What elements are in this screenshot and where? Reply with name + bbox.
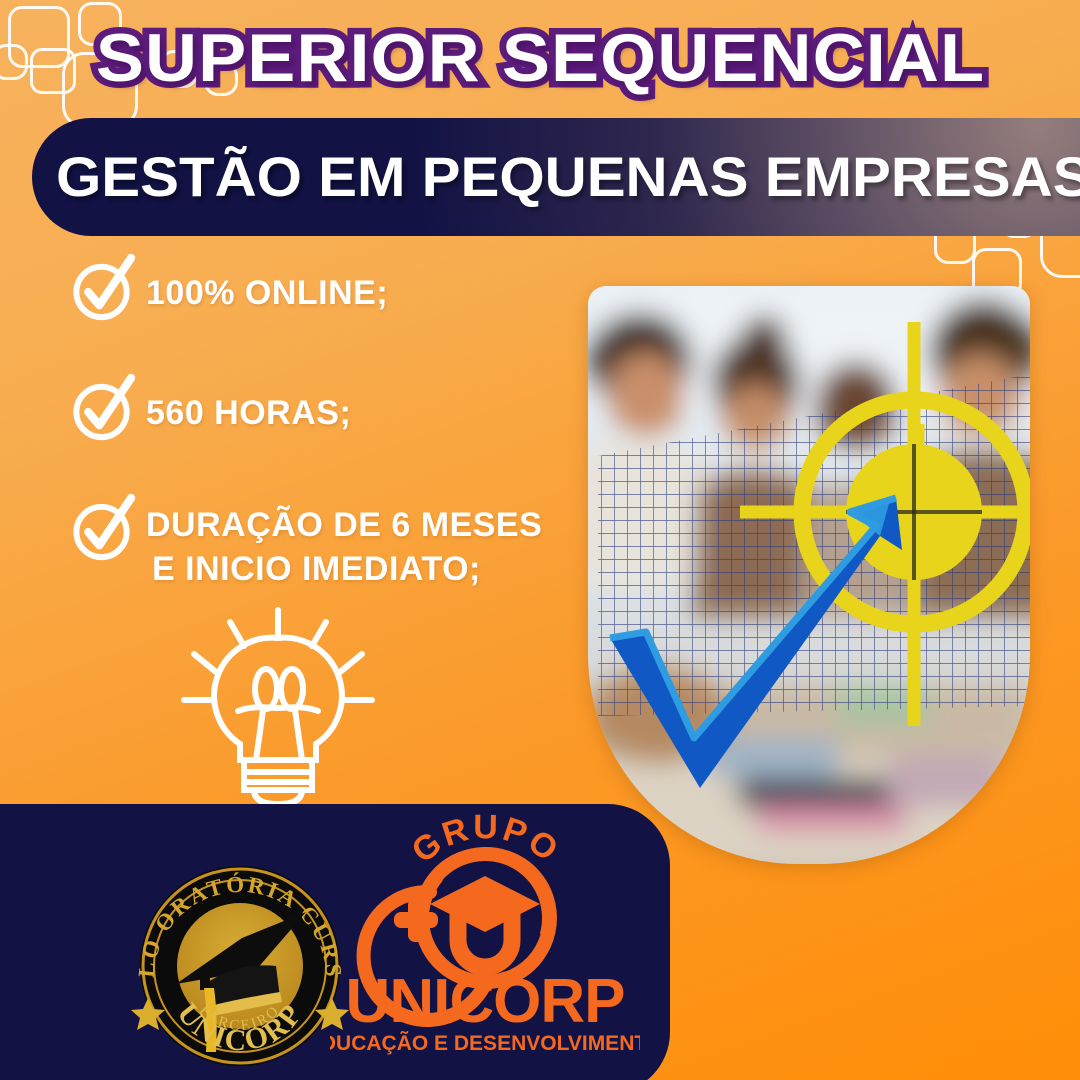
list-item-line1: DURAÇÃO DE 6 MESES	[146, 504, 542, 548]
poster-title: SUPERIOR SEQUENCIAL	[95, 24, 984, 92]
list-item-label: 100% ONLINE;	[146, 258, 388, 316]
circle-check-icon	[66, 492, 140, 566]
list-item-label: 560 HORAS;	[146, 378, 351, 436]
classroom-photo	[588, 286, 1030, 864]
circle-check-icon	[66, 252, 140, 326]
list-item-line2: E INICIO IMEDIATO;	[146, 548, 542, 592]
brand-tagline: EDUCAÇÃO E DESENVOLVIMENTO	[330, 1032, 640, 1055]
feature-list: 100% ONLINE; 560 HORAS; DURAÇÃO DE 6 MES…	[66, 258, 586, 643]
headline-text: GESTÃO EM PEQUENAS EMPRESAS	[56, 149, 1080, 205]
list-item-label: DURAÇÃO DE 6 MESES E INICIO IMEDIATO;	[146, 498, 542, 591]
headline-banner: GESTÃO EM PEQUENAS EMPRESAS	[32, 118, 1080, 236]
brand-above-text: GRUPO	[405, 812, 567, 871]
brand-name: UNICORP	[346, 967, 625, 1036]
promotional-poster: SUPERIOR SEQUENCIAL GESTÃO EM PEQUENAS E…	[0, 0, 1080, 1080]
list-item: 560 HORAS;	[66, 378, 586, 446]
unicorp-logo: GRUPO UNICORP EDUCAÇÃO E DESENVOLVIMENTO	[330, 812, 640, 1064]
photo-content	[588, 286, 1030, 864]
list-item: 100% ONLINE;	[66, 258, 586, 326]
partner-seal: POLO ORATÓRIA CURSOS PARCEIRO UNICORP	[124, 866, 356, 1066]
circle-check-icon	[66, 372, 140, 446]
title-container: SUPERIOR SEQUENCIAL	[0, 24, 1080, 92]
list-item: DURAÇÃO DE 6 MESES E INICIO IMEDIATO;	[66, 498, 586, 591]
